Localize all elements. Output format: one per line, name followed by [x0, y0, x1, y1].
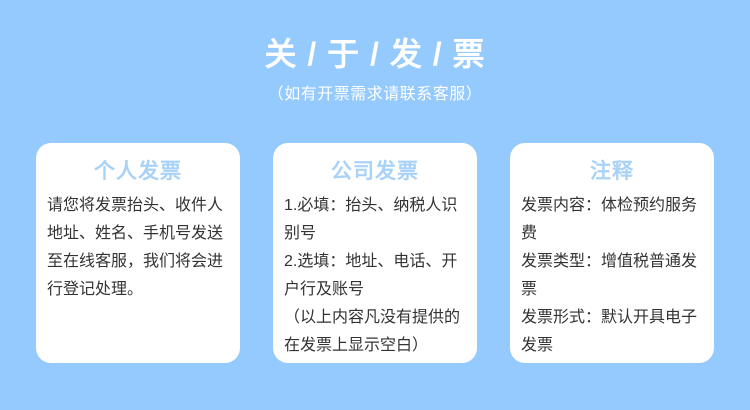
- card-notes-body: 发票内容：体检预约服务费 发票类型：增值税普通发票 发票形式：默认开具电子发票: [521, 192, 703, 360]
- card-personal-invoice-line-1: 请您将发票抬头、收件人地址、姓名、手机号发送至在线客服，我们将会进行登记处理。: [47, 192, 229, 304]
- card-personal-invoice-title: 个人发票: [47, 157, 229, 187]
- card-company-invoice-line-2: 2.选填：地址、电话、开户行及账号: [284, 248, 466, 304]
- card-company-invoice-body: 1.必填：抬头、纳税人识别号 2.选填：地址、电话、开户行及账号 （以上内容凡没…: [284, 192, 466, 360]
- card-personal-invoice: 个人发票 请您将发票抬头、收件人地址、姓名、手机号发送至在线客服，我们将会进行登…: [36, 143, 240, 363]
- card-notes-line-2: 发票类型：增值税普通发票: [521, 248, 703, 304]
- invoice-cards-row: 个人发票 请您将发票抬头、收件人地址、姓名、手机号发送至在线客服，我们将会进行登…: [36, 143, 714, 363]
- card-notes-line-1: 发票内容：体检预约服务费: [521, 192, 703, 248]
- card-company-invoice-line-3: （以上内容凡没有提供的在发票上显示空白）: [284, 304, 466, 360]
- card-company-invoice-title: 公司发票: [284, 157, 466, 187]
- card-notes-title: 注释: [521, 157, 703, 187]
- card-notes: 注释 发票内容：体检预约服务费 发票类型：增值税普通发票 发票形式：默认开具电子…: [510, 143, 714, 363]
- card-personal-invoice-body: 请您将发票抬头、收件人地址、姓名、手机号发送至在线客服，我们将会进行登记处理。: [47, 192, 229, 304]
- page-title: 关 / 于 / 发 / 票: [0, 34, 750, 74]
- page-header: 关 / 于 / 发 / 票 （如有开票需求请联系客服）: [0, 34, 750, 106]
- card-company-invoice-line-1: 1.必填：抬头、纳税人识别号: [284, 192, 466, 248]
- card-company-invoice: 公司发票 1.必填：抬头、纳税人识别号 2.选填：地址、电话、开户行及账号 （以…: [273, 143, 477, 363]
- about-invoice-page: 关 / 于 / 发 / 票 （如有开票需求请联系客服） 个人发票 请您将发票抬头…: [0, 0, 750, 410]
- page-subtitle: （如有开票需求请联系客服）: [0, 84, 750, 106]
- card-notes-line-3: 发票形式：默认开具电子发票: [521, 304, 703, 360]
